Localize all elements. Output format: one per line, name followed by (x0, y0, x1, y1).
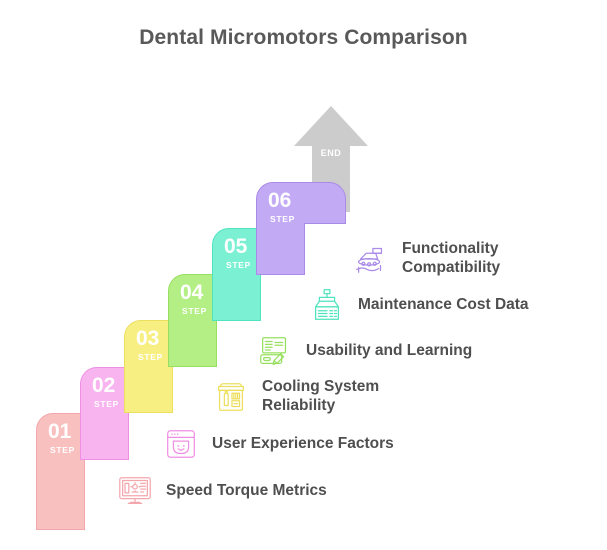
step-leg (212, 269, 261, 321)
info-row-02[interactable]: User Experience Factors (162, 425, 394, 463)
info-row-label: User Experience Factors (212, 435, 394, 454)
info-row-label: Functionality Compatibility (402, 240, 592, 278)
step-caption: STEP (50, 445, 75, 455)
end-arrow-label: END (292, 148, 370, 158)
info-row-05[interactable]: Maintenance Cost Data (308, 286, 529, 324)
info-row-label: Speed Torque Metrics (166, 482, 327, 501)
document-pen-icon (256, 332, 294, 370)
info-row-label: Cooling System Reliability (262, 378, 452, 416)
info-row-label: Maintenance Cost Data (358, 296, 529, 315)
info-row-04[interactable]: Usability and Learning (256, 332, 472, 370)
step-number: 01 (48, 421, 71, 442)
step-caption: STEP (270, 214, 295, 224)
step-leg (256, 223, 305, 275)
monitor-icon (116, 472, 154, 510)
step-leg (124, 361, 173, 413)
step-leg (168, 315, 217, 367)
step-caption: STEP (94, 399, 119, 409)
info-row-label: Usability and Learning (306, 342, 472, 361)
supply-box-icon (212, 378, 250, 416)
step-caption: STEP (182, 306, 207, 316)
step-leg (80, 408, 129, 460)
info-row-01[interactable]: Speed Torque Metrics (116, 472, 327, 510)
step-leg (36, 454, 85, 530)
step-caption: STEP (138, 352, 163, 362)
step-number: 04 (180, 282, 203, 303)
step-caption: STEP (226, 260, 251, 270)
infographic-canvas: Dental Micromotors Comparison END 01 STE… (0, 0, 607, 550)
info-row-03[interactable]: Cooling System Reliability (212, 378, 452, 416)
browser-smile-icon (162, 425, 200, 463)
step-block-06[interactable]: 06 STEP (256, 182, 346, 275)
step-number: 02 (92, 375, 115, 396)
step-number: 03 (136, 328, 159, 349)
step-number: 05 (224, 236, 247, 257)
info-row-06[interactable]: Functionality Compatibility (352, 240, 592, 278)
step-number: 06 (268, 190, 291, 211)
factory-icon (308, 286, 346, 324)
page-title: Dental Micromotors Comparison (0, 26, 607, 50)
machine-icon (352, 240, 390, 278)
